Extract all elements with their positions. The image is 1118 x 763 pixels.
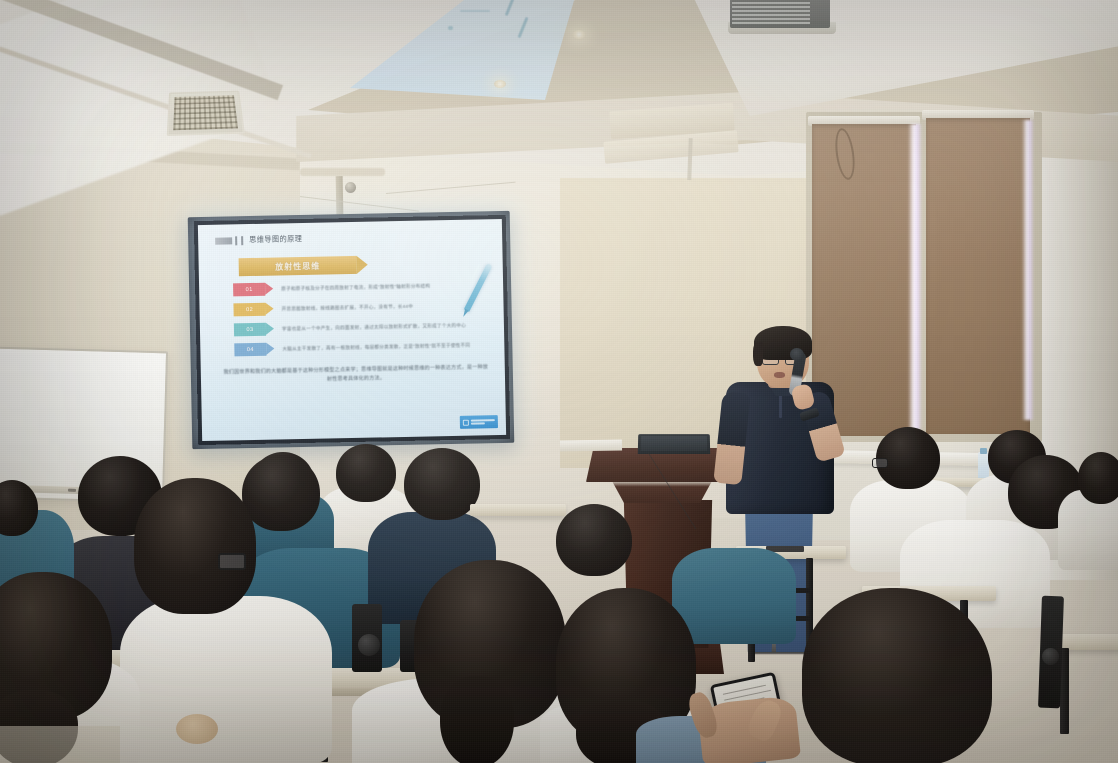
laptop-screen — [641, 436, 707, 451]
audience-head-far-right — [1078, 452, 1118, 504]
slide-item-row-4: 04 大脑从主干发散了，再有一根放射线，每层都分类发散，正是"放射性"就不至于使… — [234, 338, 494, 356]
presenter-hair-side — [753, 342, 763, 366]
roller-blind-right[interactable] — [926, 118, 1030, 434]
lectern-neck — [612, 481, 712, 503]
ceiling-downlight-2 — [494, 80, 506, 88]
presentation-slide: 思维导图的原理 放射性思维 01 原子和原子核及分子在四周放射了电流，形成"放射… — [198, 219, 506, 441]
audience-eyeglasses-front-1 — [218, 553, 246, 570]
slide-item-tag-01: 01 — [233, 283, 265, 297]
audience-head-foreground-right — [802, 588, 992, 763]
badge-line-1 — [471, 419, 495, 421]
slide-item-tag-04: 04 — [234, 343, 266, 357]
slide-item-row-2: 02 开思思图放射线，按线路图去扩展，不开心，没有节，长44中 — [233, 298, 493, 316]
blind-light-gap-1 — [908, 124, 922, 430]
slide-item-number-02: 02 — [246, 306, 253, 312]
chair-knob-mid — [358, 634, 380, 656]
audience-eyeglasses-right-1 — [872, 458, 888, 468]
ceiling-vent-grill-icon — [173, 95, 238, 130]
classroom-photo: 思维导图的原理 放射性思维 01 原子和原子核及分子在四周放射了电流，形成"放射… — [0, 0, 1118, 763]
audience-head-front-1 — [134, 478, 256, 614]
student-desk-mid-1 — [470, 504, 566, 516]
slide-item-tag-03: 03 — [234, 323, 266, 337]
ac-unit-grill-icon — [732, 0, 810, 24]
water-bottle-cap — [980, 448, 987, 454]
title-block-decoration — [215, 237, 232, 244]
screen-roller-housing — [300, 168, 385, 176]
screen-mount-bracket — [336, 176, 344, 216]
badge-mark-icon — [463, 419, 469, 425]
badge-text-lines — [471, 418, 495, 426]
audience-head-mid-0 — [556, 504, 632, 576]
slide-item-text-01: 原子和原子核及分子在四周放射了电流，形成"放射性"轴射形分布结构 — [281, 283, 430, 292]
badge-line-2 — [471, 422, 485, 424]
slide-logo-badge — [460, 415, 498, 429]
slide-title: 思维导图的原理 — [249, 234, 302, 245]
presenter-mouth — [774, 372, 785, 378]
slide-title-row: 思维导图的原理 — [215, 230, 492, 246]
slide-item-row-3: 03 宇宙也是从一个中产生，向四面发射，通过太阳以放射形式扩散，又形成了个大的中… — [234, 318, 494, 336]
projection-screen[interactable]: 思维导图的原理 放射性思维 01 原子和原子核及分子在四周放射了电流，形成"放射… — [198, 219, 506, 441]
slide-item-number-03: 03 — [246, 326, 253, 332]
audience-ponytail-front-2 — [440, 676, 514, 763]
chair-knob-right — [1042, 648, 1059, 665]
phone-note-line-1 — [723, 685, 766, 695]
slide-item-number-01: 01 — [246, 286, 253, 292]
slide-item-text-04: 大脑从主干发散了，再有一根放射线，每层都分类发散，正是"放射性"就不至于使性不同 — [282, 342, 470, 352]
floor — [0, 726, 120, 763]
slide-item-tag-02: 02 — [233, 303, 265, 317]
ceiling-downlight-1 — [572, 30, 586, 39]
blind-light-gap-2 — [1022, 120, 1034, 420]
slide-item-row-1: 01 原子和原子核及分子在四周放射了电流，形成"放射性"轴射形分布结构 — [233, 278, 493, 296]
audience-body-mid-1 — [672, 548, 796, 644]
slide-summary-text: 我们因世界和我们的大脑都是基于这种分形模型之点来学；思维导图就是这种时候思维的一… — [223, 363, 489, 386]
wall-ledge-left — [560, 439, 622, 451]
slide-item-number-04: 04 — [247, 346, 254, 352]
slide-banner-label: 放射性思维 — [275, 260, 320, 272]
whiteboard-marker-1 — [68, 489, 76, 492]
slide-banner: 放射性思维 — [239, 256, 357, 276]
audience-head-mid-2 — [242, 455, 320, 531]
hair-scrunchie — [176, 714, 218, 744]
audience-body-front-1 — [120, 596, 332, 763]
audience-head-back-1 — [336, 444, 396, 502]
title-bar-1-icon — [235, 236, 237, 245]
slide-item-text-03: 宇宙也是从一个中产生，向四面发射，通过太阳以放射形式扩散，又形成了个大的中心 — [282, 322, 466, 332]
audience-head-mid-3 — [404, 448, 480, 520]
title-bar-2-icon — [241, 236, 243, 245]
slide-item-text-02: 开思思图放射线，按线路图去扩展，不开心，没有节，长44中 — [282, 303, 414, 312]
ceiling-camera-icon — [345, 182, 356, 193]
